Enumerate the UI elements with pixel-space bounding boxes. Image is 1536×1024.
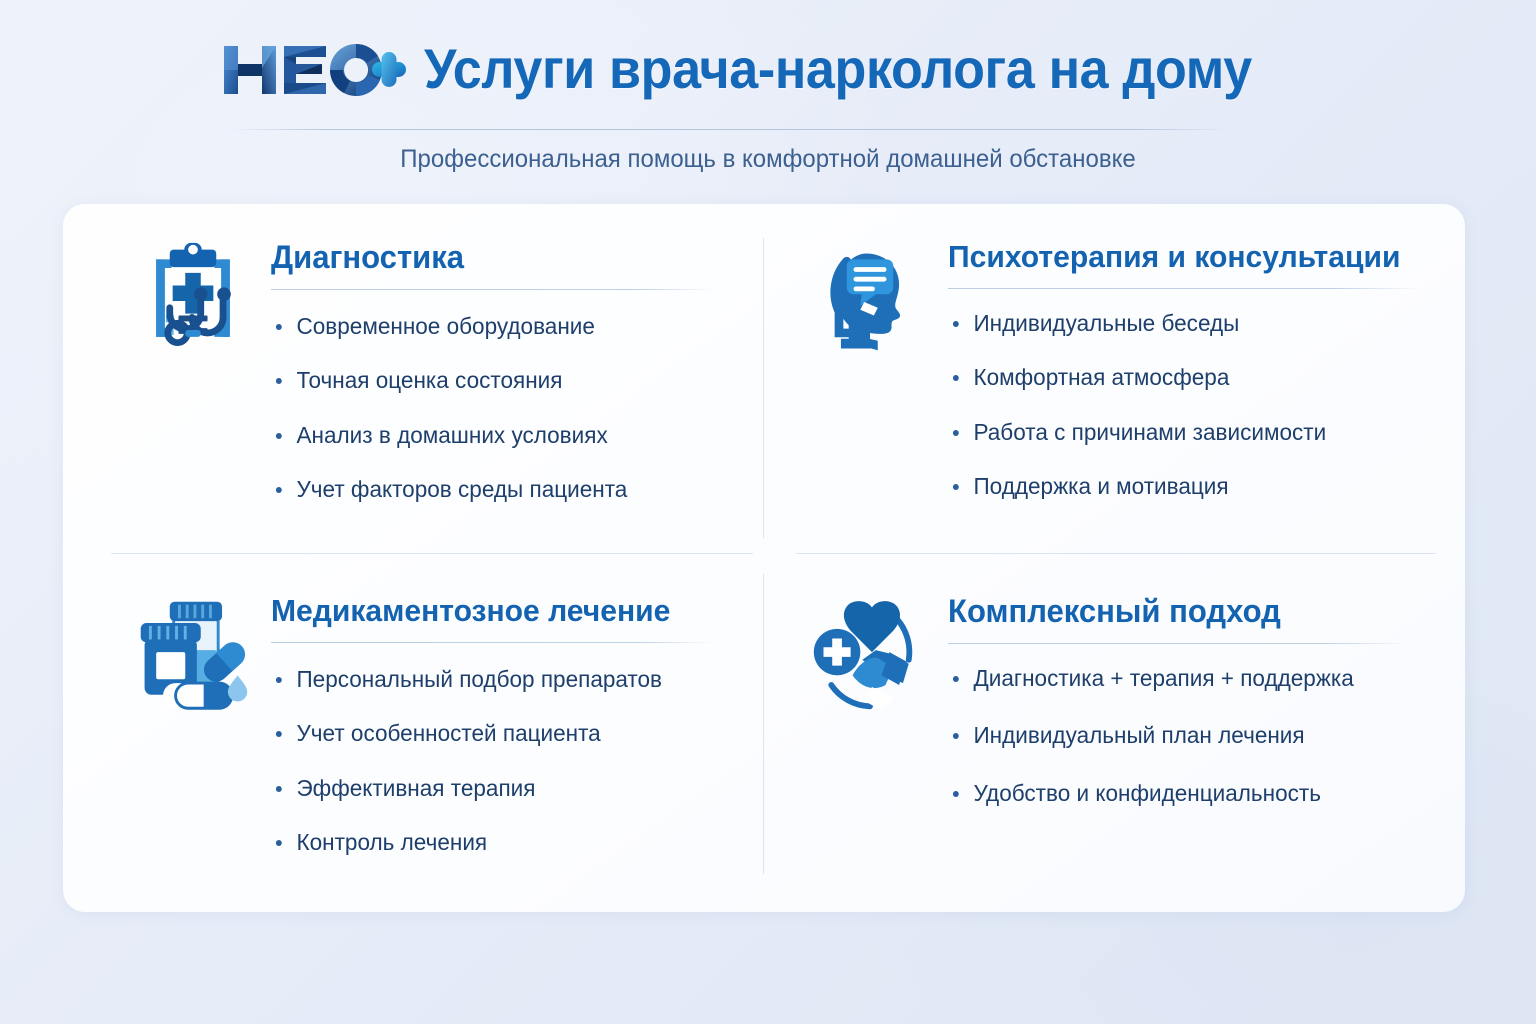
neo-plus-logo-icon	[222, 38, 408, 100]
title-row: Услуги врача-нарколога на дому	[0, 38, 1536, 100]
infographic-page: Услуги врача-нарколога на дому Профессио…	[0, 0, 1536, 1024]
list-item: Индивидуальный план лечения	[948, 721, 1421, 750]
card-bullet-list: Современное оборудование Точная оценка с…	[271, 312, 730, 505]
list-item: Точная оценка состояния	[271, 366, 721, 395]
list-item: Индивидуальные беседы	[948, 309, 1421, 338]
page-title: Услуги врача-нарколога на дому	[424, 41, 1252, 97]
list-item: Персональный подбор препаратов	[271, 665, 721, 694]
services-panel: Диагностика Современное оборудование Точ…	[63, 204, 1465, 912]
card-title-underline	[271, 289, 715, 290]
services-grid: Диагностика Современное оборудование Точ…	[63, 204, 1465, 912]
clipboard-stethoscope-icon	[127, 234, 259, 366]
list-item: Контроль лечения	[271, 828, 721, 857]
card-title: Медикаментозное лечение	[271, 594, 716, 629]
service-card-complex-approach[interactable]: Комплексный подход Диагностика + терапия…	[764, 558, 1465, 912]
page-subtitle: Профессиональная помощь в комфортной дом…	[31, 145, 1506, 174]
card-body: Психотерапия и консультации Индивидуальн…	[936, 234, 1431, 501]
card-title-underline	[271, 642, 715, 643]
service-card-psychotherapy[interactable]: Психотерапия и консультации Индивидуальн…	[764, 204, 1465, 558]
card-title-underline	[948, 288, 1420, 289]
card-title-underline	[948, 643, 1408, 644]
service-card-medication[interactable]: Медикаментозное лечение Персональный под…	[63, 558, 764, 912]
card-title: Комплексный подход	[948, 594, 1417, 630]
card-title: Диагностика	[271, 240, 716, 276]
page-header: Услуги врача-нарколога на дому Профессио…	[0, 0, 1536, 195]
card-title: Психотерапия и консультации	[948, 240, 1417, 275]
card-bullet-list: Персональный подбор препаратов Учет особ…	[271, 665, 730, 858]
list-item: Работа с причинами зависимости	[948, 418, 1421, 447]
card-bullet-list: Диагностика + терапия + поддержка Индиви…	[948, 664, 1431, 808]
list-item: Диагностика + терапия + поддержка	[948, 664, 1421, 693]
list-item: Эффективная терапия	[271, 774, 721, 803]
list-item: Удобство и конфиденциальность	[948, 779, 1421, 808]
card-bullet-list: Индивидуальные беседы Комфортная атмосфе…	[948, 309, 1431, 502]
header-divider	[228, 129, 1230, 130]
card-body: Медикаментозное лечение Персональный под…	[259, 588, 730, 857]
list-item: Анализ в домашних условиях	[271, 421, 721, 450]
list-item: Поддержка и мотивация	[948, 472, 1421, 501]
service-card-diagnostics[interactable]: Диагностика Современное оборудование Точ…	[63, 204, 764, 558]
head-speech-bubble-icon	[804, 234, 936, 366]
card-body: Диагностика Современное оборудование Точ…	[259, 234, 730, 505]
list-item: Комфортная атмосфера	[948, 363, 1421, 392]
card-body: Комплексный подход Диагностика + терапия…	[936, 588, 1431, 836]
medicine-bottles-pills-icon	[127, 588, 259, 720]
heart-handshake-cross-icon	[804, 588, 936, 720]
list-item: Учет особенностей пациента	[271, 719, 721, 748]
list-item: Учет факторов среды пациента	[271, 475, 721, 504]
list-item: Современное оборудование	[271, 312, 721, 341]
